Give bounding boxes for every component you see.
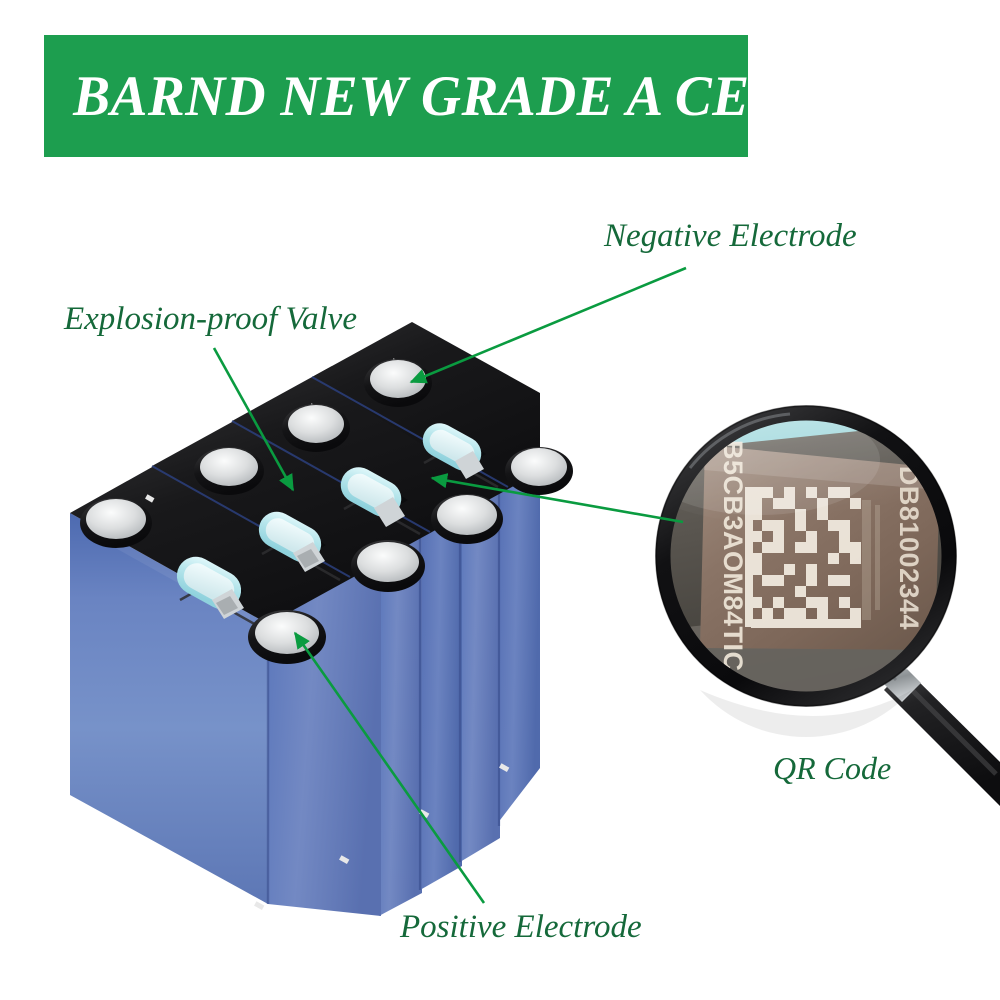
callout-arrows (214, 268, 686, 903)
magnifier-handle (884, 668, 1000, 806)
cell-1-terminal-rear (80, 498, 152, 548)
cell-right-faces (379, 462, 540, 916)
qr-code-arrow (432, 478, 683, 522)
headline-banner: BARND NEW GRADE A CELL (44, 35, 748, 157)
data-matrix-code (745, 487, 861, 628)
cell-4-explosion-proof-valve (417, 417, 488, 479)
cell-1-terminal-front-positive (248, 610, 326, 664)
cell-2-terminal-front (351, 540, 425, 592)
cell-2-top-cap (152, 411, 452, 577)
magnifier-ring-highlight (690, 414, 790, 468)
magnifier-ring-outline (656, 406, 956, 706)
cell-3-explosion-proof-valve (334, 461, 407, 527)
label-negative-electrode: Negative Electrode (604, 220, 857, 253)
infographic-canvas: BARND NEW GRADE A CELL (0, 0, 1000, 1000)
top-cap-recess-details (180, 454, 498, 626)
qr-plate-smudges (862, 500, 880, 620)
cell-3-top-cap (232, 366, 532, 532)
battery-cell-stack (70, 322, 573, 916)
magnifier-ring (663, 413, 949, 699)
qr-label-plate (700, 445, 940, 650)
magnifier: OB5CB3AOM84TIC DB81002344 (640, 400, 1000, 806)
magnifier-lens-content: OB5CB3AOM84TIC DB81002344 (640, 400, 965, 720)
top-cap-slots (214, 449, 486, 604)
cell-4-terminal-front (505, 447, 573, 495)
qr-serial-left: OB5CB3AOM84TIC (718, 418, 748, 671)
cell-3-terminal-rear (282, 404, 350, 452)
magnifier-shadow (700, 690, 912, 737)
cell-2-explosion-proof-valve (252, 505, 327, 572)
label-explosion-proof-valve: Explosion-proof Valve (64, 303, 357, 336)
cell-2-terminal-rear (194, 447, 264, 495)
label-positive-electrode: Positive Electrode (400, 911, 642, 944)
headline-text: BARND NEW GRADE A CELL (44, 64, 818, 129)
top-cap-index-marks (145, 358, 509, 910)
negative-electrode-arrow (411, 268, 686, 382)
positive-electrode-arrow (295, 633, 484, 903)
cell-1-explosion-proof-valve (170, 550, 248, 619)
cell-1-top-cap (70, 457, 370, 624)
cell-4-top-cap (312, 322, 540, 486)
cell-front-face (70, 513, 268, 904)
cell-4-terminal-rear-negative (364, 359, 432, 407)
label-qr-code: QR Code (773, 752, 891, 784)
explosion-proof-valve-arrow (214, 348, 293, 490)
magnifier-ferrule (867, 648, 921, 702)
cell-front-right-face (268, 545, 381, 916)
qr-serial-right: DB81002344 (894, 466, 924, 630)
cell-3-terminal-front (431, 494, 503, 544)
